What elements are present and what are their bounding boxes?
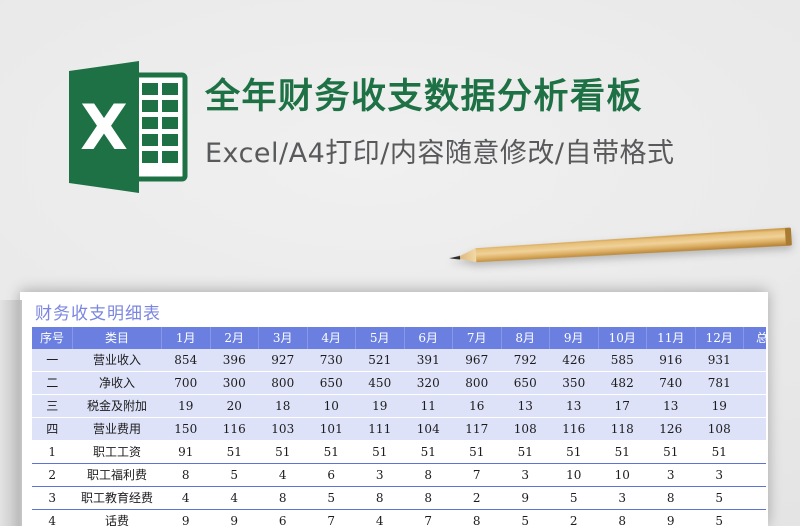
cell-month-value: 13 xyxy=(501,395,550,418)
cell-month-value: 11 xyxy=(404,395,453,418)
table-body: 一营业收入85439692773052139196779242658591693… xyxy=(32,349,766,526)
cell-month-value: 118 xyxy=(598,418,647,441)
column-header-month: 1月 xyxy=(162,327,211,349)
cell-month-value: 10 xyxy=(550,464,599,487)
cell-month-value: 4 xyxy=(162,487,211,510)
cell-month-value: 650 xyxy=(307,372,356,395)
column-header-month: 6月 xyxy=(404,327,453,349)
cell-month-value: 426 xyxy=(550,349,599,372)
cell-category: 净收入 xyxy=(73,372,162,395)
cell-month-value: 5 xyxy=(210,464,259,487)
cell-month-value: 19 xyxy=(695,395,744,418)
cell-month-value: 927 xyxy=(259,349,308,372)
cell-month-value: 126 xyxy=(647,418,696,441)
cell-month-value: 6 xyxy=(307,464,356,487)
worksheet-title: 财务收支明细表 xyxy=(35,299,161,324)
cell-month-value: 108 xyxy=(501,418,550,441)
cell-month-value: 2 xyxy=(453,487,502,510)
cell-total: 69 xyxy=(744,487,767,510)
cell-index: 三 xyxy=(32,395,73,418)
cell-month-value: 800 xyxy=(259,372,308,395)
table-row: 3职工教育经费44858829538569 xyxy=(32,487,766,510)
cell-month-value: 8 xyxy=(598,510,647,526)
cell-month-value: 3 xyxy=(647,464,696,487)
cell-month-value: 150 xyxy=(162,418,211,441)
cell-month-value: 19 xyxy=(162,395,211,418)
table-row: 一营业收入85439692773052139196779242658591693… xyxy=(32,349,766,372)
cell-month-value: 8 xyxy=(404,464,453,487)
cell-category: 营业收入 xyxy=(73,349,162,372)
cell-month-value: 5 xyxy=(501,510,550,526)
cell-month-value: 730 xyxy=(307,349,356,372)
cell-month-value: 4 xyxy=(356,510,405,526)
cell-month-value: 800 xyxy=(453,372,502,395)
cell-category: 职工工资 xyxy=(73,441,162,464)
table-header-row: 序号类目1月2月3月4月5月6月7月8月9月10月11月12月总计 xyxy=(32,327,766,349)
cell-month-value: 51 xyxy=(695,441,744,464)
cell-month-value: 13 xyxy=(647,395,696,418)
cell-index: 1 xyxy=(32,441,73,464)
cell-index: 四 xyxy=(32,418,73,441)
cell-month-value: 51 xyxy=(550,441,599,464)
column-header-month: 10月 xyxy=(598,327,647,349)
column-header-month: 4月 xyxy=(307,327,356,349)
cell-month-value: 350 xyxy=(550,372,599,395)
cell-month-value: 916 xyxy=(647,349,696,372)
cell-total: 188 xyxy=(744,395,767,418)
cell-month-value: 10 xyxy=(598,464,647,487)
cell-month-value: 792 xyxy=(501,349,550,372)
column-header-month: 12月 xyxy=(695,327,744,349)
cell-month-value: 650 xyxy=(501,372,550,395)
cell-month-value: 300 xyxy=(210,372,259,395)
cell-month-value: 117 xyxy=(453,418,502,441)
cell-month-value: 18 xyxy=(259,395,308,418)
cell-month-value: 51 xyxy=(453,441,502,464)
cell-month-value: 9 xyxy=(501,487,550,510)
cell-month-value: 16 xyxy=(453,395,502,418)
cell-month-value: 19 xyxy=(356,395,405,418)
cell-total: 652 xyxy=(744,441,767,464)
cell-month-value: 7 xyxy=(453,464,502,487)
cell-month-value: 51 xyxy=(404,441,453,464)
cell-month-value: 8 xyxy=(356,487,405,510)
cell-month-value: 4 xyxy=(259,464,308,487)
table-row: 4话费99674785289579 xyxy=(32,510,766,526)
cell-month-value: 10 xyxy=(307,395,356,418)
cell-month-value: 5 xyxy=(695,510,744,526)
cell-month-value: 116 xyxy=(550,418,599,441)
column-header-month: 8月 xyxy=(501,327,550,349)
cell-month-value: 51 xyxy=(647,441,696,464)
cell-index: 2 xyxy=(32,464,73,487)
cell-month-value: 8 xyxy=(404,487,453,510)
cell-month-value: 7 xyxy=(307,510,356,526)
cell-month-value: 108 xyxy=(695,418,744,441)
cell-index: 一 xyxy=(32,349,73,372)
cell-month-value: 7 xyxy=(404,510,453,526)
cell-month-value: 103 xyxy=(259,418,308,441)
cell-month-value: 111 xyxy=(356,418,405,441)
cell-month-value: 396 xyxy=(210,349,259,372)
cell-month-value: 20 xyxy=(210,395,259,418)
column-header-month: 9月 xyxy=(550,327,599,349)
cell-month-value: 3 xyxy=(598,487,647,510)
column-header-month: 11月 xyxy=(647,327,696,349)
table-row: 二净收入700300800650450320800650350482740781… xyxy=(32,372,766,395)
cell-month-value: 8 xyxy=(647,487,696,510)
cell-total: 843 xyxy=(744,349,767,372)
cell-index: 二 xyxy=(32,372,73,395)
cell-month-value: 51 xyxy=(210,441,259,464)
column-header-month: 2月 xyxy=(210,327,259,349)
cell-month-value: 4 xyxy=(210,487,259,510)
cell-total: 70 xyxy=(744,464,767,487)
cell-month-value: 2 xyxy=(550,510,599,526)
cell-month-value: 5 xyxy=(307,487,356,510)
cell-category: 税金及附加 xyxy=(73,395,162,418)
cell-month-value: 8 xyxy=(259,487,308,510)
cell-index: 4 xyxy=(32,510,73,526)
cell-month-value: 521 xyxy=(356,349,405,372)
cell-month-value: 3 xyxy=(695,464,744,487)
cell-month-value: 5 xyxy=(550,487,599,510)
cell-index: 3 xyxy=(32,487,73,510)
cell-month-value: 450 xyxy=(356,372,405,395)
cell-month-value: 740 xyxy=(647,372,696,395)
column-header-index: 序号 xyxy=(32,327,73,349)
cell-total: 702 xyxy=(744,372,767,395)
cell-month-value: 8 xyxy=(453,510,502,526)
cell-month-value: 8 xyxy=(162,464,211,487)
page-subtitle: Excel/A4打印/内容随意修改/自带格式 xyxy=(205,131,674,170)
cell-month-value: 51 xyxy=(356,441,405,464)
cell-month-value: 9 xyxy=(162,510,211,526)
cell-month-value: 854 xyxy=(162,349,211,372)
column-header-total: 总计 xyxy=(744,327,767,349)
cell-category: 职工教育经费 xyxy=(73,487,162,510)
cell-month-value: 13 xyxy=(550,395,599,418)
cell-month-value: 51 xyxy=(501,441,550,464)
cell-month-value: 482 xyxy=(598,372,647,395)
cell-category: 职工福利费 xyxy=(73,464,162,487)
financial-detail-table: 序号类目1月2月3月4月5月6月7月8月9月10月11月12月总计 一营业收入8… xyxy=(32,327,766,526)
cell-month-value: 3 xyxy=(356,464,405,487)
svg-text:X: X xyxy=(80,91,128,164)
cell-month-value: 104 xyxy=(404,418,453,441)
cell-month-value: 5 xyxy=(695,487,744,510)
cell-month-value: 320 xyxy=(404,372,453,395)
cell-month-value: 391 xyxy=(404,349,453,372)
table-row: 四营业费用15011610310111110411710811611812610… xyxy=(32,418,766,441)
cell-month-value: 781 xyxy=(695,372,744,395)
cell-month-value: 101 xyxy=(307,418,356,441)
cell-month-value: 9 xyxy=(647,510,696,526)
cell-month-value: 9 xyxy=(210,510,259,526)
cell-month-value: 700 xyxy=(162,372,211,395)
cell-month-value: 51 xyxy=(259,441,308,464)
table-row: 1职工工资915151515151515151515151652 xyxy=(32,441,766,464)
cell-total: 79 xyxy=(744,510,767,526)
column-header-category: 类目 xyxy=(73,327,162,349)
cell-month-value: 931 xyxy=(695,349,744,372)
table-row: 2职工福利费8546387310103370 xyxy=(32,464,766,487)
cell-month-value: 51 xyxy=(307,441,356,464)
cell-month-value: 3 xyxy=(501,464,550,487)
cell-month-value: 91 xyxy=(162,441,211,464)
cell-total: 137 xyxy=(744,418,767,441)
cell-month-value: 585 xyxy=(598,349,647,372)
table-row: 三税金及附加192018101911161313171319188 xyxy=(32,395,766,418)
column-header-month: 7月 xyxy=(453,327,502,349)
cell-category: 营业费用 xyxy=(73,418,162,441)
cell-month-value: 6 xyxy=(259,510,308,526)
cell-month-value: 967 xyxy=(453,349,502,372)
column-header-month: 3月 xyxy=(259,327,308,349)
cell-month-value: 17 xyxy=(598,395,647,418)
cell-month-value: 116 xyxy=(210,418,259,441)
cell-month-value: 51 xyxy=(598,441,647,464)
worksheet-card: 财务收支明细表 序号类目1月2月3月4月5月6月7月8月9月10月11月12月总… xyxy=(22,294,766,526)
cell-category: 话费 xyxy=(73,510,162,526)
excel-logo-icon: X xyxy=(57,57,197,197)
column-header-month: 5月 xyxy=(356,327,405,349)
page-title: 全年财务收支数据分析看板 xyxy=(205,68,643,119)
